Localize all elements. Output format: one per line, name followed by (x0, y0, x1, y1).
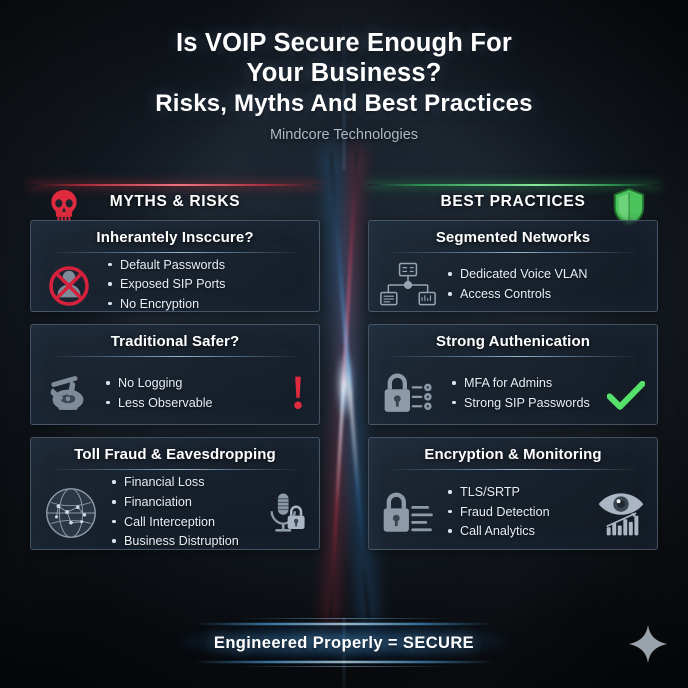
network-topology-icon (379, 261, 437, 309)
list-item: No Logging (105, 374, 309, 394)
list-item: Financial Loss (111, 473, 261, 493)
card-bullet-list: Default Passwords Exposed SIP Ports No E… (97, 256, 309, 312)
column-header-right: BEST PRACTICES (368, 184, 658, 220)
column-title-left: MYTHS & RISKS (30, 193, 320, 211)
list-item: Default Passwords (107, 256, 309, 276)
header-block: Is VOIP Secure Enough For Your Business?… (0, 28, 688, 143)
padlock-settings-icon (379, 369, 441, 419)
eye-analytics-icon (595, 488, 647, 538)
card-bullet-list: Financial Loss Financiation Call Interce… (101, 473, 261, 550)
list-item: Less Observable (105, 394, 309, 414)
card-traditional-safer[interactable]: Traditional Safer? No L (30, 324, 320, 425)
card-segmented-networks[interactable]: Segmented Networks (368, 220, 658, 312)
banner-line-bottom (194, 661, 494, 663)
list-item: Dedicated Voice VLAN (447, 265, 647, 285)
title-line-1: Is VOIP Secure Enough For (0, 28, 688, 58)
card-strong-authentication[interactable]: Strong Authenication (368, 324, 658, 425)
column-myths-risks: MYTHS & RISKS Inherantely Insccure? (30, 184, 320, 562)
list-item: Exposed SIP Ports (107, 275, 309, 295)
list-item: Call Interception (111, 513, 261, 533)
infographic-canvas: Is VOIP Secure Enough For Your Business?… (0, 0, 688, 688)
list-item: TLS/SRTP (447, 483, 595, 503)
beam-blue-streak (329, 150, 370, 619)
brand-subtitle: Mindcore Technologies (0, 127, 688, 143)
card-title: Strong Authenication (369, 325, 657, 350)
list-item: Call Analytics (447, 522, 595, 542)
beam-bright-core (336, 350, 354, 420)
user-blocked-icon (41, 257, 97, 312)
column-header-left: MYTHS & RISKS (30, 184, 320, 220)
list-item: Financiation (111, 493, 261, 513)
check-mark-icon (607, 381, 645, 416)
card-bullet-list: Dedicated Voice VLAN Access Controls (437, 265, 647, 304)
microphone-lock-icon (261, 489, 309, 537)
banner-hairline-top (239, 618, 449, 619)
list-item: No Encryption (107, 295, 309, 312)
list-item: Business Distruption (111, 532, 261, 550)
column-best-practices: BEST PRACTICES Segmented Networks (368, 184, 658, 562)
list-item: Access Controls (447, 285, 647, 305)
exclamation-mark-icon (289, 375, 307, 416)
list-item: Fraud Detection (447, 503, 595, 523)
card-title: Segmented Networks (369, 221, 657, 246)
card-bullet-list: TLS/SRTP Fraud Detection Call Analytics (437, 483, 595, 542)
padlock-lines-icon (379, 487, 437, 539)
center-divider-beam (318, 150, 370, 620)
footer-banner: Engineered Properly = SECURE (0, 596, 688, 688)
card-toll-fraud-eavesdropping[interactable]: Toll Fraud & Eavesdropping (30, 437, 320, 550)
card-encryption-monitoring[interactable]: Encryption & Monitoring (368, 437, 658, 550)
title-line-3: Risks, Myths And Best Practices (0, 90, 688, 118)
globe-network-icon (41, 483, 101, 543)
card-title: Traditional Safer? (31, 325, 319, 350)
desk-phone-icon (41, 367, 95, 421)
card-title: Encryption & Monitoring (369, 438, 657, 463)
card-bullet-list: No Logging Less Observable (95, 374, 309, 413)
banner-line-top (194, 623, 494, 625)
banner-text: Engineered Properly = SECURE (0, 634, 688, 653)
sparkle-icon (626, 622, 670, 666)
card-inherently-insecure[interactable]: Inherantely Insccure? Default Passwords (30, 220, 320, 312)
card-title: Toll Fraud & Eavesdropping (31, 438, 319, 463)
banner-hairline-bottom (239, 666, 449, 667)
beam-red-streak (329, 150, 358, 619)
title-line-2: Your Business? (0, 58, 688, 88)
card-title: Inherantely Insccure? (31, 221, 319, 246)
